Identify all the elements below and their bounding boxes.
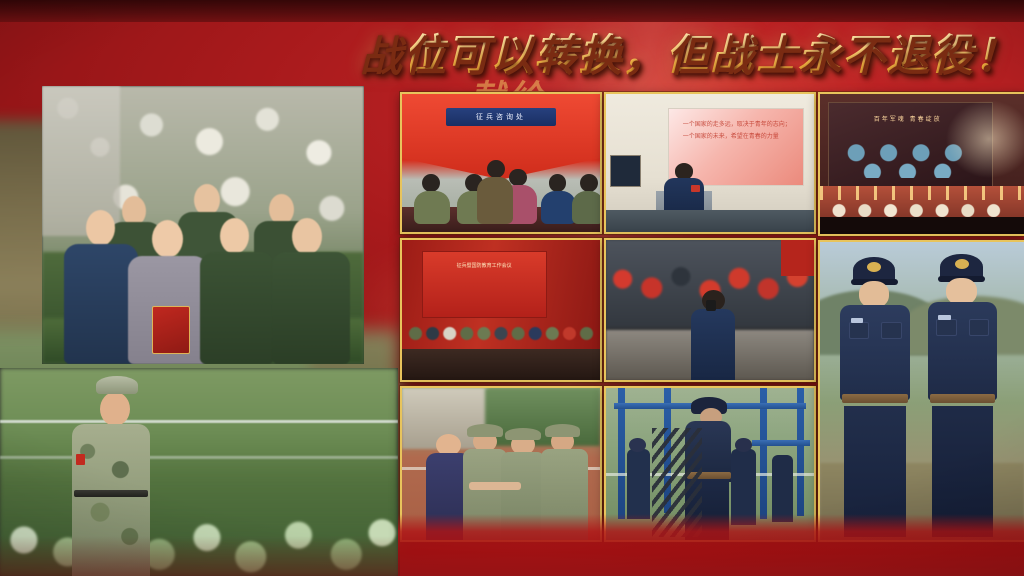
poster-canvas: 献给 战位可以转换，但战士永不退役！: [0, 0, 1024, 576]
vignette-overlay: [0, 0, 1024, 576]
